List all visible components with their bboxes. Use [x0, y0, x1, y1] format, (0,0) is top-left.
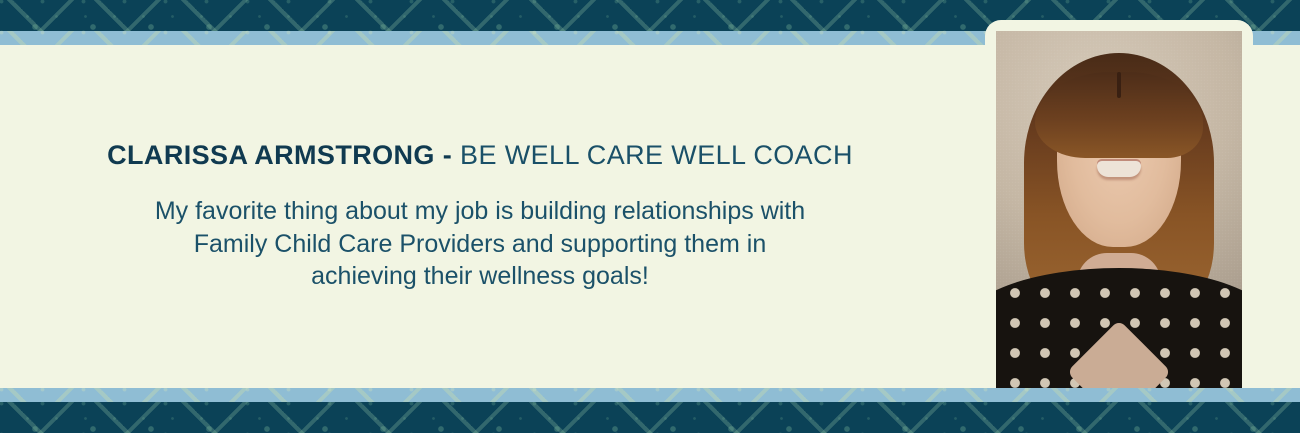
coach-name: CLARISSA ARMSTRONG	[107, 140, 435, 170]
dot-pattern-icon	[0, 388, 1300, 402]
smile-icon	[1097, 161, 1141, 177]
coach-headshot	[996, 31, 1242, 401]
chevron-pattern-icon	[0, 402, 1300, 433]
coach-role: BE WELL CARE WELL COACH	[460, 140, 853, 170]
chevron-pattern-icon	[0, 388, 1300, 402]
title-separator: -	[435, 140, 460, 170]
page-title: CLARISSA ARMSTRONG - BE WELL CARE WELL C…	[107, 140, 853, 171]
hair-part-icon	[1117, 72, 1121, 98]
quote-line-2: Family Child Care Providers and supporti…	[155, 228, 805, 261]
polka-dot-blouse-icon	[996, 268, 1242, 401]
quote-line-1: My favorite thing about my job is buildi…	[155, 195, 805, 228]
dot-pattern-icon	[0, 402, 1300, 433]
bottom-light-band	[0, 388, 1300, 402]
coach-quote: My favorite thing about my job is buildi…	[155, 195, 805, 293]
bottom-dark-band	[0, 402, 1300, 433]
photo-frame	[985, 20, 1253, 412]
text-content: CLARISSA ARMSTRONG - BE WELL CARE WELL C…	[0, 45, 960, 388]
profile-banner: CLARISSA ARMSTRONG - BE WELL CARE WELL C…	[0, 0, 1300, 433]
quote-line-3: achieving their wellness goals!	[155, 260, 805, 293]
